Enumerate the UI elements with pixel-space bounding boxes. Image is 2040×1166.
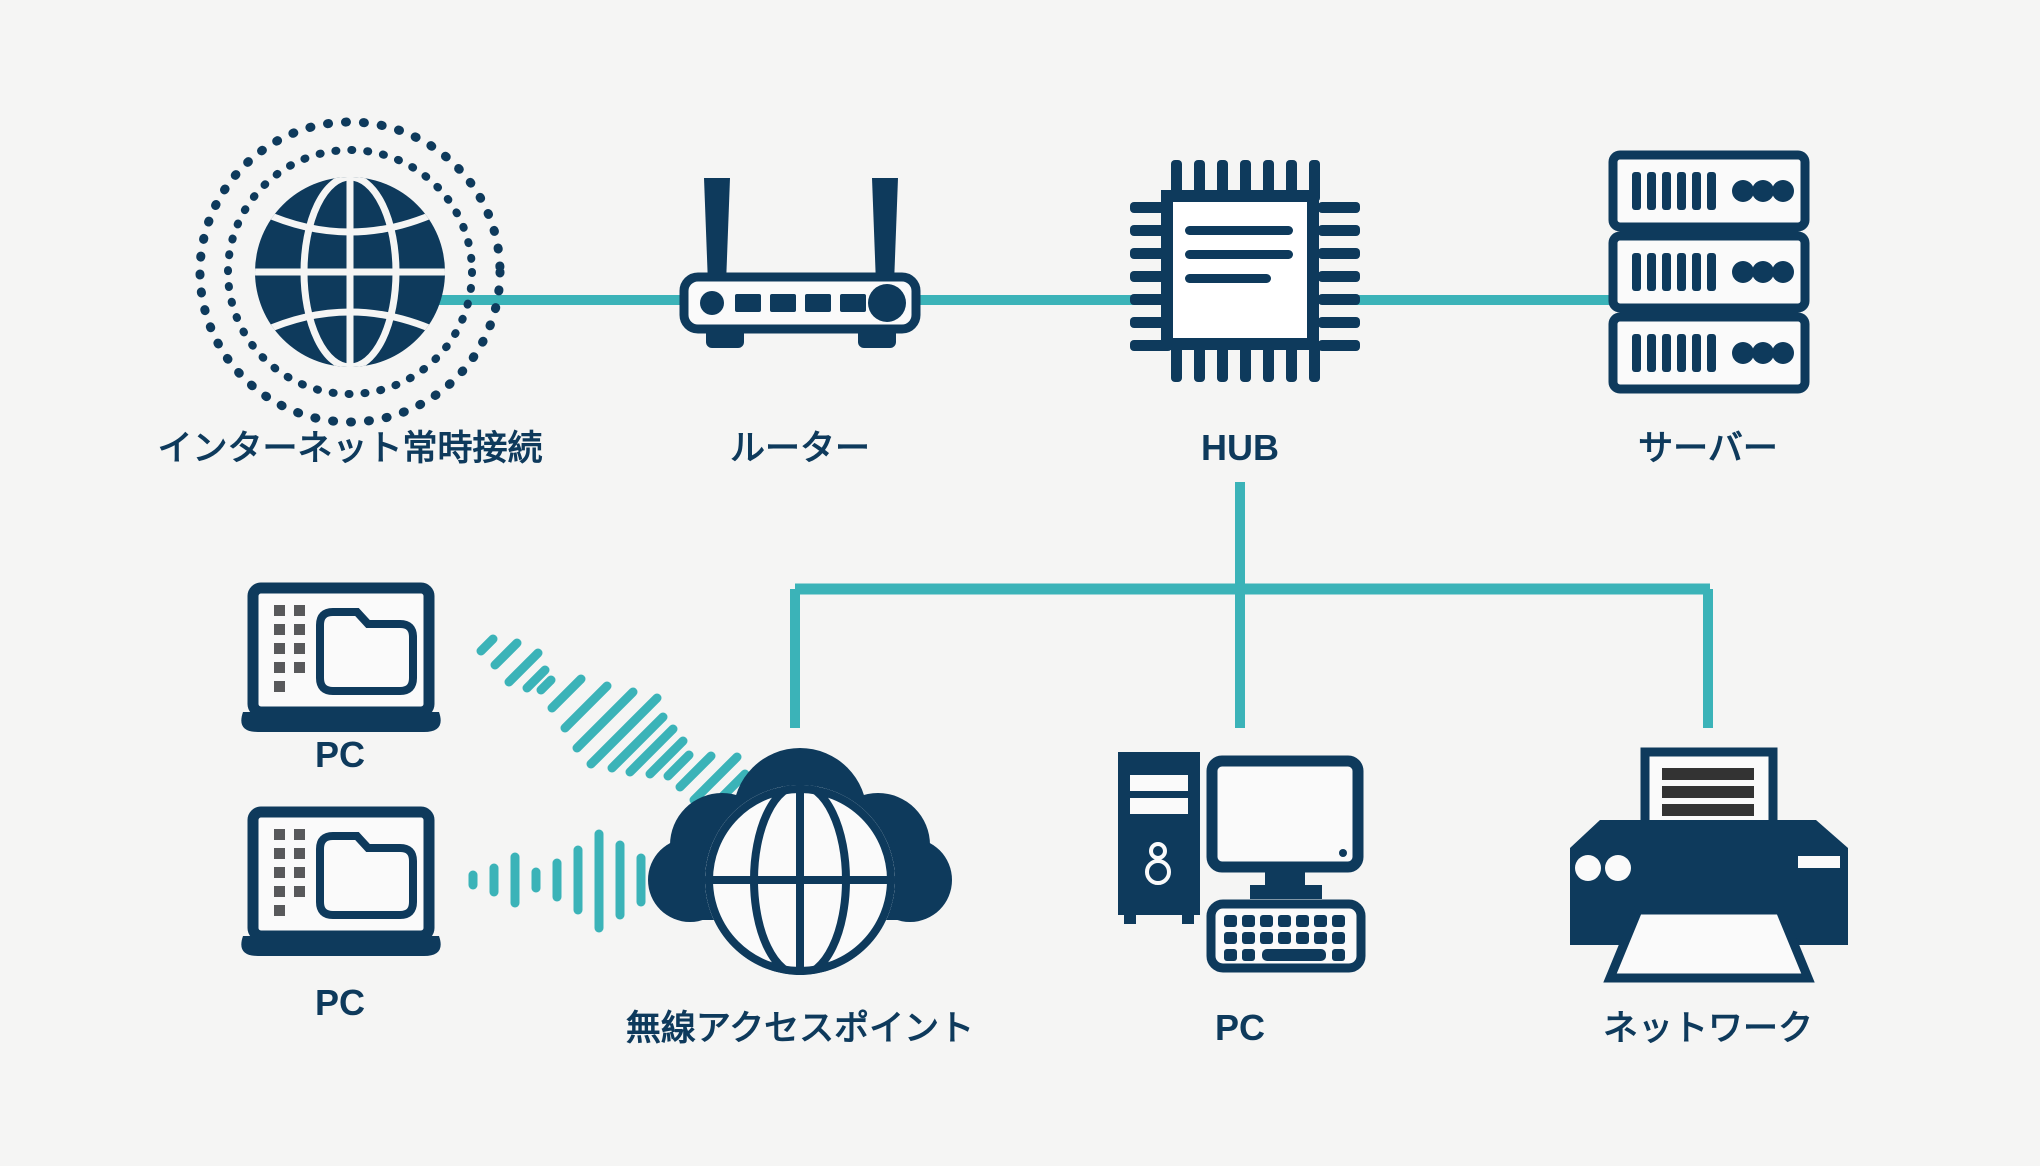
- network-topology-diagram: インターネット常時接続 ルーター: [0, 0, 2040, 1166]
- pc-wireless-2-label: PC: [315, 982, 365, 1023]
- pc-desktop-label: PC: [1215, 1007, 1265, 1048]
- pc-wireless-1-label: PC: [315, 734, 365, 775]
- network-printer-label: ネットワーク: [1603, 1009, 1813, 1048]
- internet-label: インターネット常時接続: [157, 429, 542, 468]
- server-label: サーバー: [1638, 429, 1778, 468]
- router-label: ルーター: [730, 429, 870, 468]
- diagram-canvas: インターネット常時接続 ルーター: [0, 0, 2040, 1166]
- laptop-folder-icon: [241, 812, 440, 956]
- hub-label: HUB: [1201, 427, 1279, 468]
- laptop-folder-icon: [241, 588, 440, 732]
- wireless-access-point-label: 無線アクセスポイント: [626, 1008, 974, 1048]
- server-rack-icon: [1613, 155, 1805, 389]
